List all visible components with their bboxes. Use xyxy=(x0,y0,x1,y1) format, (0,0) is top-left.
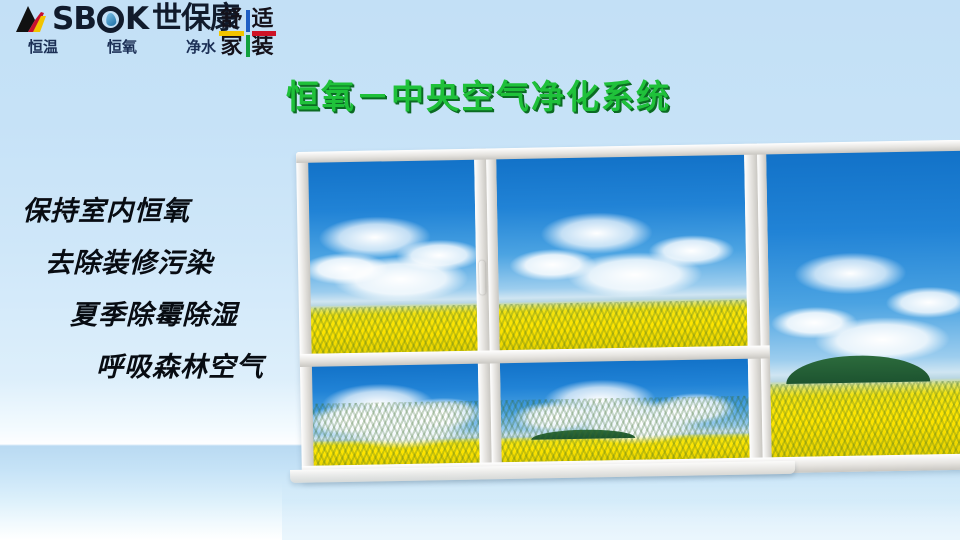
secondary-logo-char-0: 舒 xyxy=(216,6,247,33)
brand-latin-name: SB K xyxy=(52,4,148,34)
brand-feature-1: 恒氧 xyxy=(107,36,137,57)
window-pane-left-upper xyxy=(306,159,477,354)
brand-latin-part1: SB xyxy=(52,4,96,34)
secondary-logo-char-2: 家 xyxy=(216,33,247,60)
brand-feature-2: 净水 xyxy=(186,36,216,57)
logo-bar-red xyxy=(252,31,276,36)
sbok-arrow-logo-icon xyxy=(14,4,48,34)
window-handle[interactable] xyxy=(479,261,486,295)
brand-feature-list: 恒温 恒氧 净水 xyxy=(28,36,216,57)
brand-latin-part2: K xyxy=(125,4,148,34)
page-title: 恒氧－中央空气净化系统 xyxy=(286,70,671,118)
benefit-item-0: 保持室内恒氧 xyxy=(22,186,300,238)
benefit-item-2: 夏季除霉除湿 xyxy=(70,290,300,342)
people-group xyxy=(702,198,960,540)
benefit-item-3: 呼吸森林空气 xyxy=(96,342,300,394)
brand-header: SB K 世保康 恒温 恒氧 净水 舒 适 家 装 xyxy=(0,0,290,66)
field-texture xyxy=(311,401,480,466)
slide-canvas: SB K 世保康 恒温 恒氧 净水 舒 适 家 装 恒氧－中央空气净化系统 保持… xyxy=(0,0,960,540)
woman-hair xyxy=(825,535,916,540)
secondary-logo-char-1: 适 xyxy=(247,6,278,33)
logo-bar-yellow xyxy=(219,31,244,36)
benefit-item-1: 去除装修污染 xyxy=(45,238,300,290)
hero-photo xyxy=(282,140,960,540)
field-texture xyxy=(309,305,478,354)
logo-bar-green xyxy=(246,35,250,57)
brand-feature-0: 恒温 xyxy=(28,36,58,57)
window-pane-left-lower xyxy=(310,363,480,466)
brand-logo-row: SB K 世保康 xyxy=(14,4,239,34)
secondary-logo-char-3: 装 xyxy=(247,33,278,60)
benefit-list: 保持室内恒氧 去除装修污染 夏季除霉除湿 呼吸森林空气 xyxy=(0,186,300,394)
logo-bar-blue xyxy=(246,10,250,32)
secondary-logo: 舒 适 家 装 xyxy=(216,6,278,60)
water-droplet-icon xyxy=(97,6,124,33)
